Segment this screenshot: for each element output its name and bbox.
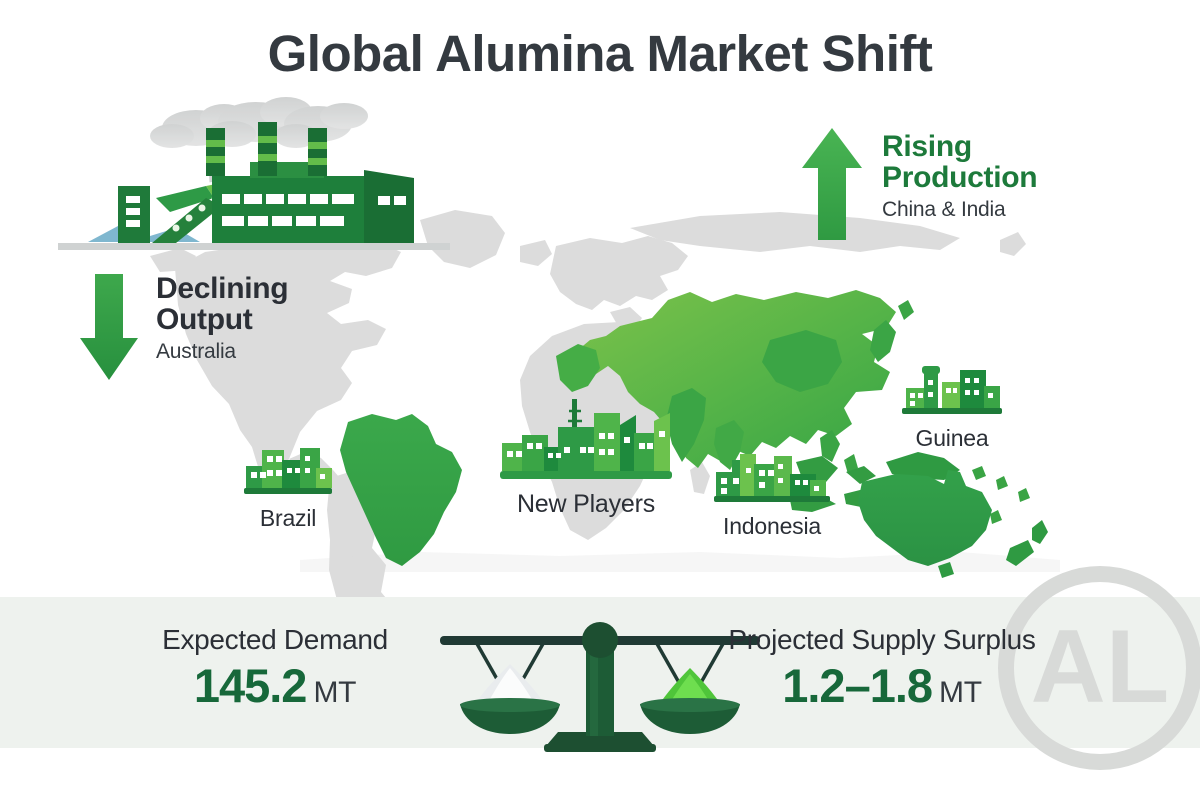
factory-cluster-icon [238, 434, 338, 496]
hub-marker-guinea: Guinea [898, 358, 1006, 452]
callout-declining-headline: Declining Output [156, 274, 331, 336]
al-watermark-text: AL [1031, 609, 1170, 725]
factory-cluster-icon [710, 438, 834, 504]
hub-label-brazil: Brazil [238, 505, 338, 532]
stat-unit-projected-supply-surplus: MT [939, 676, 982, 709]
callout-rising-headline: Rising Production [882, 132, 1057, 194]
stat-label-expected-demand: Expected Demand [150, 624, 400, 656]
page-title: Global Alumina Market Shift [0, 24, 1200, 83]
stat-value-expected-demand: 145.2MT [150, 658, 400, 713]
callout-rising-production: Rising Production China & India [800, 126, 1057, 242]
region-australia [858, 470, 992, 566]
hub-label-new-players: New Players [496, 490, 676, 519]
industrial-complex-icon [496, 393, 676, 481]
stat-value-projected-supply-surplus: 1.2–1.8MT [724, 658, 1040, 713]
stat-label-projected-supply-surplus: Projected Supply Surplus [724, 624, 1040, 656]
hub-marker-indonesia: Indonesia [710, 438, 834, 540]
infographic-canvas: Global Alumina Market Shift Rising Produ… [0, 0, 1200, 800]
hub-marker-brazil: Brazil [238, 434, 338, 532]
stat-number-projected-supply-surplus: 1.2–1.8 [782, 659, 932, 712]
hub-marker-new-players: New Players [496, 393, 676, 519]
callout-declining-sub: Australia [156, 340, 331, 364]
arrow-down-icon [78, 272, 140, 382]
stat-projected-supply-surplus: Projected Supply Surplus 1.2–1.8MT [724, 624, 1040, 713]
stat-number-expected-demand: 145.2 [194, 659, 307, 712]
callout-declining-output: Declining Output Australia [78, 272, 331, 382]
hub-label-indonesia: Indonesia [710, 513, 834, 540]
arrow-up-icon [800, 126, 864, 242]
stat-unit-expected-demand: MT [313, 676, 356, 709]
stat-expected-demand: Expected Demand 145.2MT [150, 624, 400, 713]
refinery-cluster-icon [898, 358, 1006, 416]
callout-rising-sub: China & India [882, 198, 1057, 222]
hub-label-guinea: Guinea [898, 425, 1006, 452]
